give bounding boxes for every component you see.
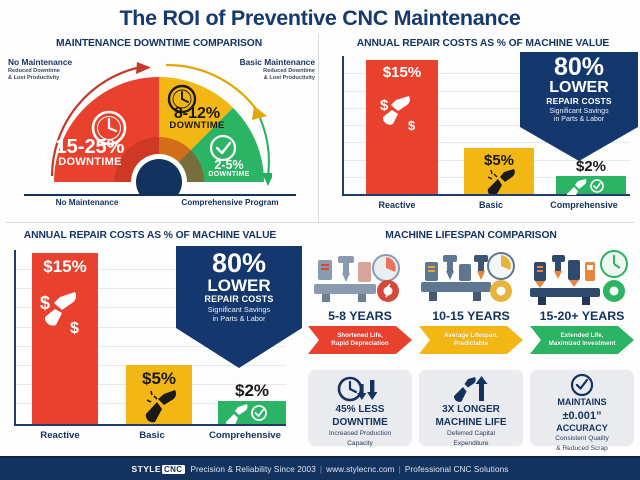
gauge-value-unit-0: DOWNTIME (30, 157, 150, 167)
footer-separator-2: | (399, 465, 401, 474)
lifespan-banner-line1-1: Average Lifespan, (444, 332, 498, 340)
check-circle-icon (570, 374, 594, 396)
savings-mid-label: LOWER (180, 277, 298, 295)
benefit-head-0b: DOWNTIME (332, 417, 388, 428)
savings-callout-bottom: 80% LOWER REPAIR COSTS Significant Savin… (176, 246, 302, 368)
lifespan-banner-0: Shortened Life, Rapid Depreciation (308, 326, 412, 354)
bar-reactive: $15% $ $ (32, 253, 98, 424)
gauge-value-number-0: 15-25% (30, 138, 150, 157)
benefit-card-machine-life: 3X LONGER MACHINE LIFE Deferred Capital … (419, 370, 523, 446)
savings-callout-body: 80% LOWER REPAIR COSTS Significant Savin… (520, 52, 638, 127)
cnc-machine-icon (530, 246, 634, 308)
gauge-axis-label-right: Comprehensive Program (160, 198, 300, 207)
savings-tiny-line2: in Parts & Labor (524, 116, 634, 124)
lifespan-banner-line1-2: Extended Life, (560, 332, 603, 340)
infographic-page: The ROI of Preventive CNC Maintenance MA… (0, 0, 640, 480)
lifespan-years-2: 15-20+ YEARS (530, 309, 634, 323)
footer-solutions: Professional CNC Solutions (405, 465, 509, 474)
lifespan-years-0: 5-8 YEARS (308, 309, 412, 323)
benefit-sub-2b: & Reduced Scrap (556, 445, 608, 453)
wrench-icon (464, 168, 534, 194)
savings-tiny-line2: in Parts & Labor (180, 315, 298, 323)
page-title: The ROI of Preventive CNC Maintenance (0, 6, 640, 31)
cnc-machine-icon (308, 246, 412, 308)
gauge-label-left-sub2: & Lost Productivity (8, 75, 96, 81)
lifespan-icons-0 (308, 246, 412, 308)
gauge-label-right-sub1: Reduced Downtime (215, 68, 315, 74)
footer-website-link[interactable]: www.stylecnc.com (326, 465, 394, 474)
savings-mid-label: LOWER (524, 80, 634, 97)
bar-basic: $5% (126, 365, 192, 424)
gauge-value-unit-1: DOWNTIME (152, 121, 242, 130)
footer-bar: STYLE CNC Precision & Reliability Since … (0, 456, 640, 480)
clock-down-arrow-icon (337, 376, 383, 402)
gauge-label-left: No Maintenance Reduced Downtime & Lost P… (8, 58, 96, 81)
gauge-label-left-title: No Maintenance (8, 58, 96, 67)
lifespan-banner-2: Extended Life, Maximized Investment (530, 326, 634, 354)
category-label-comprehensive: Comprehensive (190, 430, 300, 441)
bar-reactive: $15% $ $ (366, 60, 438, 194)
benefit-card-accuracy: MAINTAINS ±0.001” ACCURACY Consistent Qu… (530, 370, 634, 446)
bar-value-basic: $5% (126, 369, 192, 389)
gauge-value-basic: 8-12% DOWNTIME (152, 106, 242, 130)
repair-cost-plot-bottom: $15% $ $ $5% (14, 250, 286, 426)
bar-value-reactive: $15% (32, 257, 98, 277)
lifespan-banner-text-0: Shortened Life, Rapid Depreciation (308, 326, 412, 354)
svg-text:$: $ (70, 320, 79, 337)
gauge-label-left-sub1: Reduced Downtime (8, 68, 96, 74)
lifespan-icons-1 (419, 246, 523, 308)
benefit-card-downtime: 45% LESS DOWNTIME Increased Production C… (308, 370, 412, 446)
bar-value-reactive: $15% (366, 64, 438, 81)
footer-tagline: Precision & Reliability Since 2003 (191, 465, 316, 474)
lifespan-column-2: 15-20+ YEARS Extended Life, Maximized In… (530, 246, 634, 354)
down-arrow-icon (176, 328, 302, 368)
lifespan-panel-title: MACHINE LIFESPAN COMPARISON (302, 230, 640, 241)
wrench-check-icon (556, 177, 626, 195)
bar-comprehensive: $2% (556, 176, 626, 194)
lifespan-column-0: 5-8 YEARS Shortened Life, Rapid Deprecia… (308, 246, 412, 354)
repair-cost-plot-top: $15% $ $ $5% (342, 56, 630, 196)
gauge-value-no-maintenance: 15-25% DOWNTIME (30, 138, 150, 167)
red-arrow-head (136, 62, 151, 74)
repair-cost-chart-bottom: ANNUAL REPAIR COSTS AS % OF MACHINE VALU… (0, 228, 300, 452)
benefit-head-2a: MAINTAINS (557, 398, 606, 408)
lifespan-icons-2 (530, 246, 634, 308)
gauge-value-number-1: 8-12% (152, 106, 242, 121)
lifespan-banner-text-1: Average Lifespan, Predictable (419, 326, 523, 354)
gauge-label-right-title: Basic Maintenance (215, 58, 315, 67)
lifespan-banner-line2-1: Predictable (454, 340, 488, 348)
savings-big-value: 80% (524, 55, 634, 80)
category-label-reactive: Reactive (8, 430, 112, 441)
lifespan-years-1: 10-15 YEARS (419, 309, 523, 323)
benefit-head-1a: 3X LONGER (442, 404, 500, 415)
logo-badge-text: CNC (162, 465, 185, 474)
savings-callout-body: 80% LOWER REPAIR COSTS Significant Savin… (176, 246, 302, 328)
category-label-basic: Basic (100, 430, 204, 441)
gauge-label-right-sub2: & Lost Productivity (215, 75, 315, 81)
repair-cost-chart-bottom-title: ANNUAL REPAIR COSTS AS % OF MACHINE VALU… (0, 230, 300, 241)
gauge-label-right: Basic Maintenance Reduced Downtime & Los… (215, 58, 315, 81)
cnc-machine-icon (419, 246, 523, 308)
gear-icon (603, 280, 625, 302)
horizontal-divider (6, 222, 634, 223)
benefit-sub-2a: Consistent Quality (555, 435, 609, 443)
wrench-up-arrow-icon (449, 376, 493, 402)
down-arrow-icon (520, 127, 638, 161)
benefit-head-2b: ±0.001” (562, 410, 601, 422)
gear-broken-icon (377, 280, 399, 302)
lifespan-banner-line1-0: Shortened Life, (337, 332, 383, 340)
lifespan-banner-line2-0: Rapid Depreciation (331, 340, 388, 348)
lifespan-panel: MACHINE LIFESPAN COMPARISON (302, 228, 640, 452)
savings-tiny-line1: Significant Savings (524, 108, 634, 116)
benefit-head-2c: ACCURACY (556, 424, 608, 434)
wrench-dollar-icon: $ $ (366, 86, 438, 142)
wrench-dollar-icon: $ $ (32, 283, 98, 347)
gauge-baseline (24, 194, 296, 196)
gauge-value-unit-2: DOWNTIME (193, 172, 265, 179)
repair-cost-chart-top: ANNUAL REPAIR COSTS AS % OF MACHINE VALU… (326, 34, 640, 222)
savings-small-label: REPAIR COSTS (180, 295, 298, 304)
benefit-head-1b: MACHINE LIFE (435, 417, 506, 428)
benefit-sub-1b: Expenditure (453, 440, 488, 448)
bar-comprehensive: $2% (218, 401, 286, 424)
wrench-icon (126, 389, 192, 423)
category-label-comprehensive: Comprehensive (526, 200, 640, 210)
savings-small-label: REPAIR COSTS (524, 97, 634, 106)
lifespan-banner-line2-2: Maximized Investment (549, 340, 616, 348)
bar-value-comprehensive: $2% (218, 381, 286, 401)
lifespan-column-1: 10-15 YEARS Average Lifespan, Predictabl… (419, 246, 523, 354)
gauge-value-comprehensive: 2-5% DOWNTIME (193, 160, 265, 179)
wrench-check-icon (218, 402, 286, 424)
benefit-sub-0a: Increased Production (329, 430, 391, 438)
benefit-head-0a: 45% LESS (336, 404, 385, 415)
vertical-divider (318, 34, 319, 222)
footer-separator-1: | (320, 465, 322, 474)
gauge-panel: MAINTENANCE DOWNTIME COMPARISON (0, 34, 318, 222)
gear-icon (490, 280, 512, 302)
savings-callout-top: 80% LOWER REPAIR COSTS Significant Savin… (520, 52, 638, 161)
logo-main-text: STYLE (132, 464, 161, 474)
svg-text:$: $ (380, 97, 389, 114)
savings-big-value: 80% (180, 250, 298, 277)
lifespan-banner-1: Average Lifespan, Predictable (419, 326, 523, 354)
benefit-sub-0b: Capacity (347, 440, 373, 448)
lifespan-banner-text-2: Extended Life, Maximized Investment (530, 326, 634, 354)
repair-cost-chart-top-title: ANNUAL REPAIR COSTS AS % OF MACHINE VALU… (326, 38, 640, 49)
yellow-arrow-head (252, 106, 267, 120)
svg-text:$: $ (40, 293, 50, 313)
gauge-panel-title: MAINTENANCE DOWNTIME COMPARISON (0, 38, 318, 49)
stylecnc-logo[interactable]: STYLE CNC (132, 464, 185, 474)
benefit-sub-1a: Deferred Capital (447, 430, 495, 438)
svg-text:$: $ (408, 118, 416, 133)
gauge-axis-label-left: No Maintenance (24, 198, 150, 207)
